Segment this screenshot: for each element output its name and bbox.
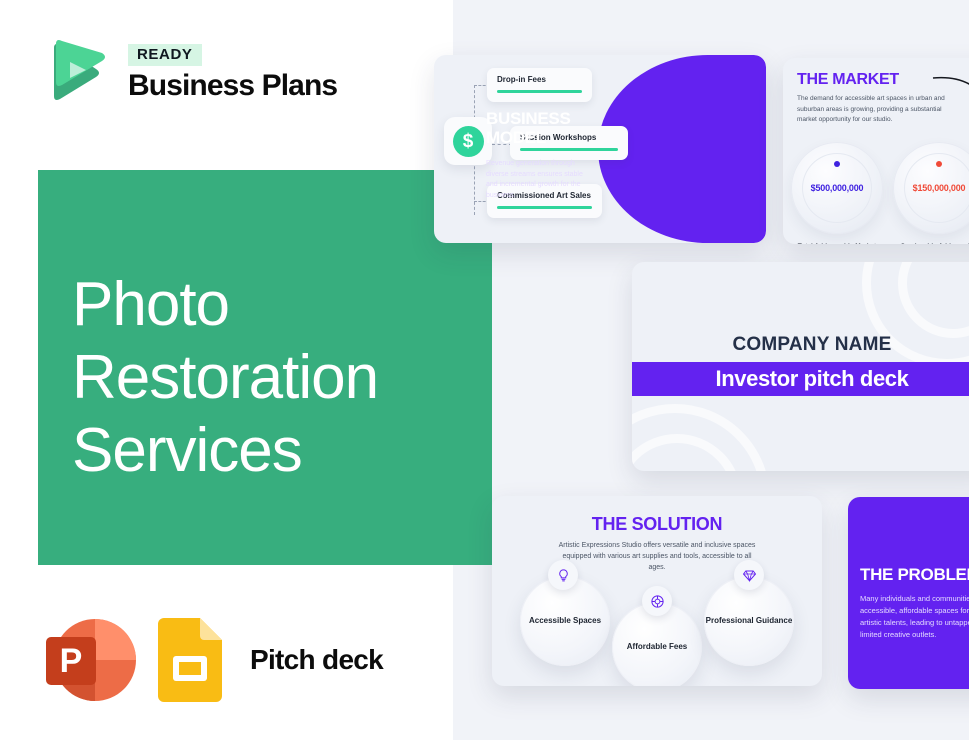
problem-body: Many individuals and communities lack ac… xyxy=(860,593,969,642)
metric-ring: $500,000,000 xyxy=(791,142,883,234)
dollar-coin-icon: $ xyxy=(444,117,492,165)
ready-badge: READY xyxy=(128,44,202,66)
curved-arrow-icon xyxy=(931,72,969,124)
pitch-deck-banner: Investor pitch deck xyxy=(632,362,969,396)
metric-caption: Serviceable Addressable Market (SAM) xyxy=(893,242,969,244)
hero-title-line-3: Services xyxy=(72,414,378,487)
format-label: Pitch deck xyxy=(250,644,383,676)
business-model-heading: BUSINESS MODEL xyxy=(486,109,598,147)
slide-the-market[interactable]: THE MARKET The demand for accessible art… xyxy=(783,58,969,244)
brand-text-block: READY Business Plans xyxy=(128,42,337,101)
brand-header: READY Business Plans xyxy=(40,34,337,108)
revenue-stream-item[interactable]: Drop-in Fees xyxy=(487,68,592,102)
powerpoint-icon: P xyxy=(40,615,136,705)
problem-title: THE PROBLEM xyxy=(860,565,969,585)
slide-the-problem[interactable]: THE PROBLEM Many individuals and communi… xyxy=(848,497,969,689)
solution-label: Professional Guidance xyxy=(706,615,793,627)
promo-canvas: READY Business Plans Photo Restoration S… xyxy=(0,0,969,744)
hero-title-line-1: Photo xyxy=(72,268,378,341)
pitch-deck-subtitle: Investor pitch deck xyxy=(716,366,909,392)
slide-the-solution[interactable]: THE SOLUTION Artistic Expressions Studio… xyxy=(492,496,822,686)
solution-body: Artistic Expressions Studio offers versa… xyxy=(554,540,760,574)
solution-title: THE SOLUTION xyxy=(492,514,822,535)
solution-label: Accessible Spaces xyxy=(529,615,601,627)
metric-dot xyxy=(834,161,840,167)
accent-bar xyxy=(497,90,582,93)
slide-business-model[interactable]: $ Drop-in Fees Session Workshops Commiss… xyxy=(434,55,766,243)
svg-text:P: P xyxy=(60,642,83,680)
slide-company-title[interactable]: COMPANY NAME Investor pitch deck xyxy=(632,262,969,471)
lifebuoy-icon xyxy=(642,586,672,616)
metric-dot xyxy=(936,161,942,167)
accent-bar xyxy=(520,148,618,151)
format-badges: P Pitch deck xyxy=(40,615,383,705)
business-model-body: Revenue generation through diverse strea… xyxy=(486,159,594,201)
lightbulb-icon xyxy=(548,560,578,590)
revenue-stream-label: Drop-in Fees xyxy=(497,75,582,84)
solution-item[interactable]: Professional Guidance xyxy=(704,576,794,666)
diamond-icon xyxy=(734,560,764,590)
play-triangle-logo-icon xyxy=(40,34,114,108)
solution-item[interactable]: Accessible Spaces xyxy=(520,576,610,666)
google-slides-icon xyxy=(158,618,222,702)
company-name: COMPANY NAME xyxy=(632,334,969,356)
market-metric: $500,000,000 Total Addressable Market (T… xyxy=(791,142,883,244)
hero-title: Photo Restoration Services xyxy=(72,268,378,487)
metric-value: $500,000,000 xyxy=(811,183,864,193)
metric-ring: $150,000,000 xyxy=(893,142,969,234)
metric-value: $150,000,000 xyxy=(913,183,966,193)
solution-label: Affordable Fees xyxy=(627,641,687,653)
market-title: THE MARKET xyxy=(797,71,899,89)
hero-title-line-2: Restoration xyxy=(72,341,378,414)
metric-caption: Total Addressable Market (TAM) xyxy=(791,242,883,244)
accent-bar xyxy=(497,206,592,209)
market-metric: $150,000,000 Serviceable Addressable Mar… xyxy=(893,142,969,244)
brand-title: Business Plans xyxy=(128,71,337,101)
solution-item[interactable]: Affordable Fees xyxy=(612,602,702,686)
